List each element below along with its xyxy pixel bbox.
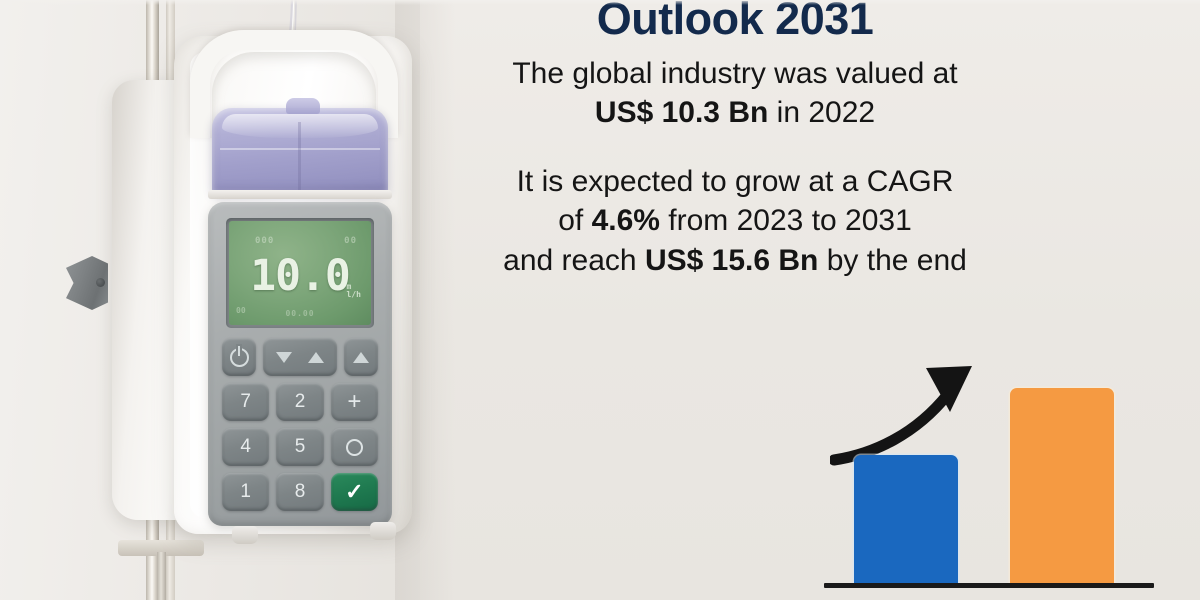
key-5[interactable]: 5 <box>276 428 323 466</box>
key-4[interactable]: 4 <box>222 428 269 466</box>
lcd-unit-line-2: l/h <box>347 291 361 299</box>
infusion-pump-device: 000 00 10.0 m l/h 00 00.00 <box>112 22 412 542</box>
lcd-top-indicators: 000 00 <box>255 235 357 246</box>
bar-2031 <box>1010 388 1114 584</box>
cover-vertical-seam <box>298 122 301 190</box>
keypad-row-4: 1 8 ✓ <box>222 473 378 511</box>
pump-keypad: 7 2 + 4 5 1 8 ✓ <box>222 338 378 514</box>
key-confirm[interactable]: ✓ <box>331 473 378 511</box>
key-o[interactable] <box>331 428 378 466</box>
forecast-line-3: and reach US$ 15.6 Bn by the end <box>422 241 1048 281</box>
forecast-line-2: of 4.6% from 2023 to 2031 <box>422 201 1048 241</box>
keypad-row-1 <box>222 338 378 376</box>
pump-foot-right <box>370 522 396 540</box>
cagr-value: 4.6% <box>592 204 660 237</box>
plus-icon: + <box>347 390 361 414</box>
up-arrow-icon <box>308 352 324 363</box>
iv-pole-lower-shaft <box>157 552 166 600</box>
forecast-amount: US$ 15.6 Bn <box>645 244 818 277</box>
forecast-line-1: It is expected to grow at a CAGR <box>422 162 1048 202</box>
pole-clamp-screw <box>96 278 105 287</box>
key-2[interactable]: 2 <box>276 383 323 421</box>
valuation-amount: US$ 10.3 Bn <box>595 96 768 129</box>
growth-bar-chart <box>824 330 1164 592</box>
infographic-text-block: Outlook 2031 The global industry was val… <box>422 0 1048 281</box>
valuation-line-1: The global industry was valued at <box>422 54 1048 93</box>
keypad-row-2: 7 2 + <box>222 383 378 421</box>
bar-2022 <box>854 455 958 584</box>
key-7[interactable]: 7 <box>222 383 269 421</box>
power-key[interactable] <box>222 338 256 376</box>
chart-baseline <box>824 583 1154 588</box>
pump-foot-left <box>232 526 258 544</box>
circle-icon <box>346 439 363 456</box>
key-plus[interactable]: + <box>331 383 378 421</box>
key-1[interactable]: 1 <box>222 473 269 511</box>
forecast-line-3-tail: by the end <box>818 244 966 277</box>
lcd-bezel: 000 00 10.0 m l/h 00 00.00 <box>226 218 374 328</box>
forecast-statement: It is expected to grow at a CAGR of 4.6%… <box>422 162 1048 281</box>
pump-cassette-cover[interactable] <box>212 108 388 194</box>
power-icon <box>230 348 249 367</box>
forecast-line-2-lead: of <box>558 204 591 237</box>
up-key[interactable] <box>344 338 378 376</box>
valuation-statement: The global industry was valued at US$ 10… <box>422 54 1048 132</box>
scroll-key[interactable] <box>263 338 337 376</box>
lcd-unit-label: m l/h <box>347 283 361 300</box>
down-arrow-icon <box>276 352 292 363</box>
top-edge-fade <box>0 0 1200 5</box>
valuation-year: in 2022 <box>768 96 875 129</box>
cover-base-ledge <box>208 190 392 199</box>
keypad-row-3: 4 5 <box>222 428 378 466</box>
lcd-screen: 000 00 10.0 m l/h 00 00.00 <box>229 221 371 325</box>
cover-latch-nub <box>286 98 320 114</box>
lcd-indicator-bottom-center: 00.00 <box>229 309 371 318</box>
up-arrow-icon <box>353 352 369 363</box>
checkmark-icon: ✓ <box>345 481 363 503</box>
pump-control-panel: 000 00 10.0 m l/h 00 00.00 <box>208 202 392 526</box>
forecast-period: from 2023 to 2031 <box>660 204 912 237</box>
lcd-indicator-top-right: 00 <box>344 236 357 246</box>
valuation-line-2: US$ 10.3 Bn in 2022 <box>422 93 1048 132</box>
forecast-line-3-lead: and reach <box>503 244 645 277</box>
infographic-canvas: 000 00 10.0 m l/h 00 00.00 <box>0 0 1200 600</box>
key-8[interactable]: 8 <box>276 473 323 511</box>
page-title: Outlook 2031 <box>422 0 1048 42</box>
lcd-indicator-top-left: 000 <box>255 236 274 246</box>
